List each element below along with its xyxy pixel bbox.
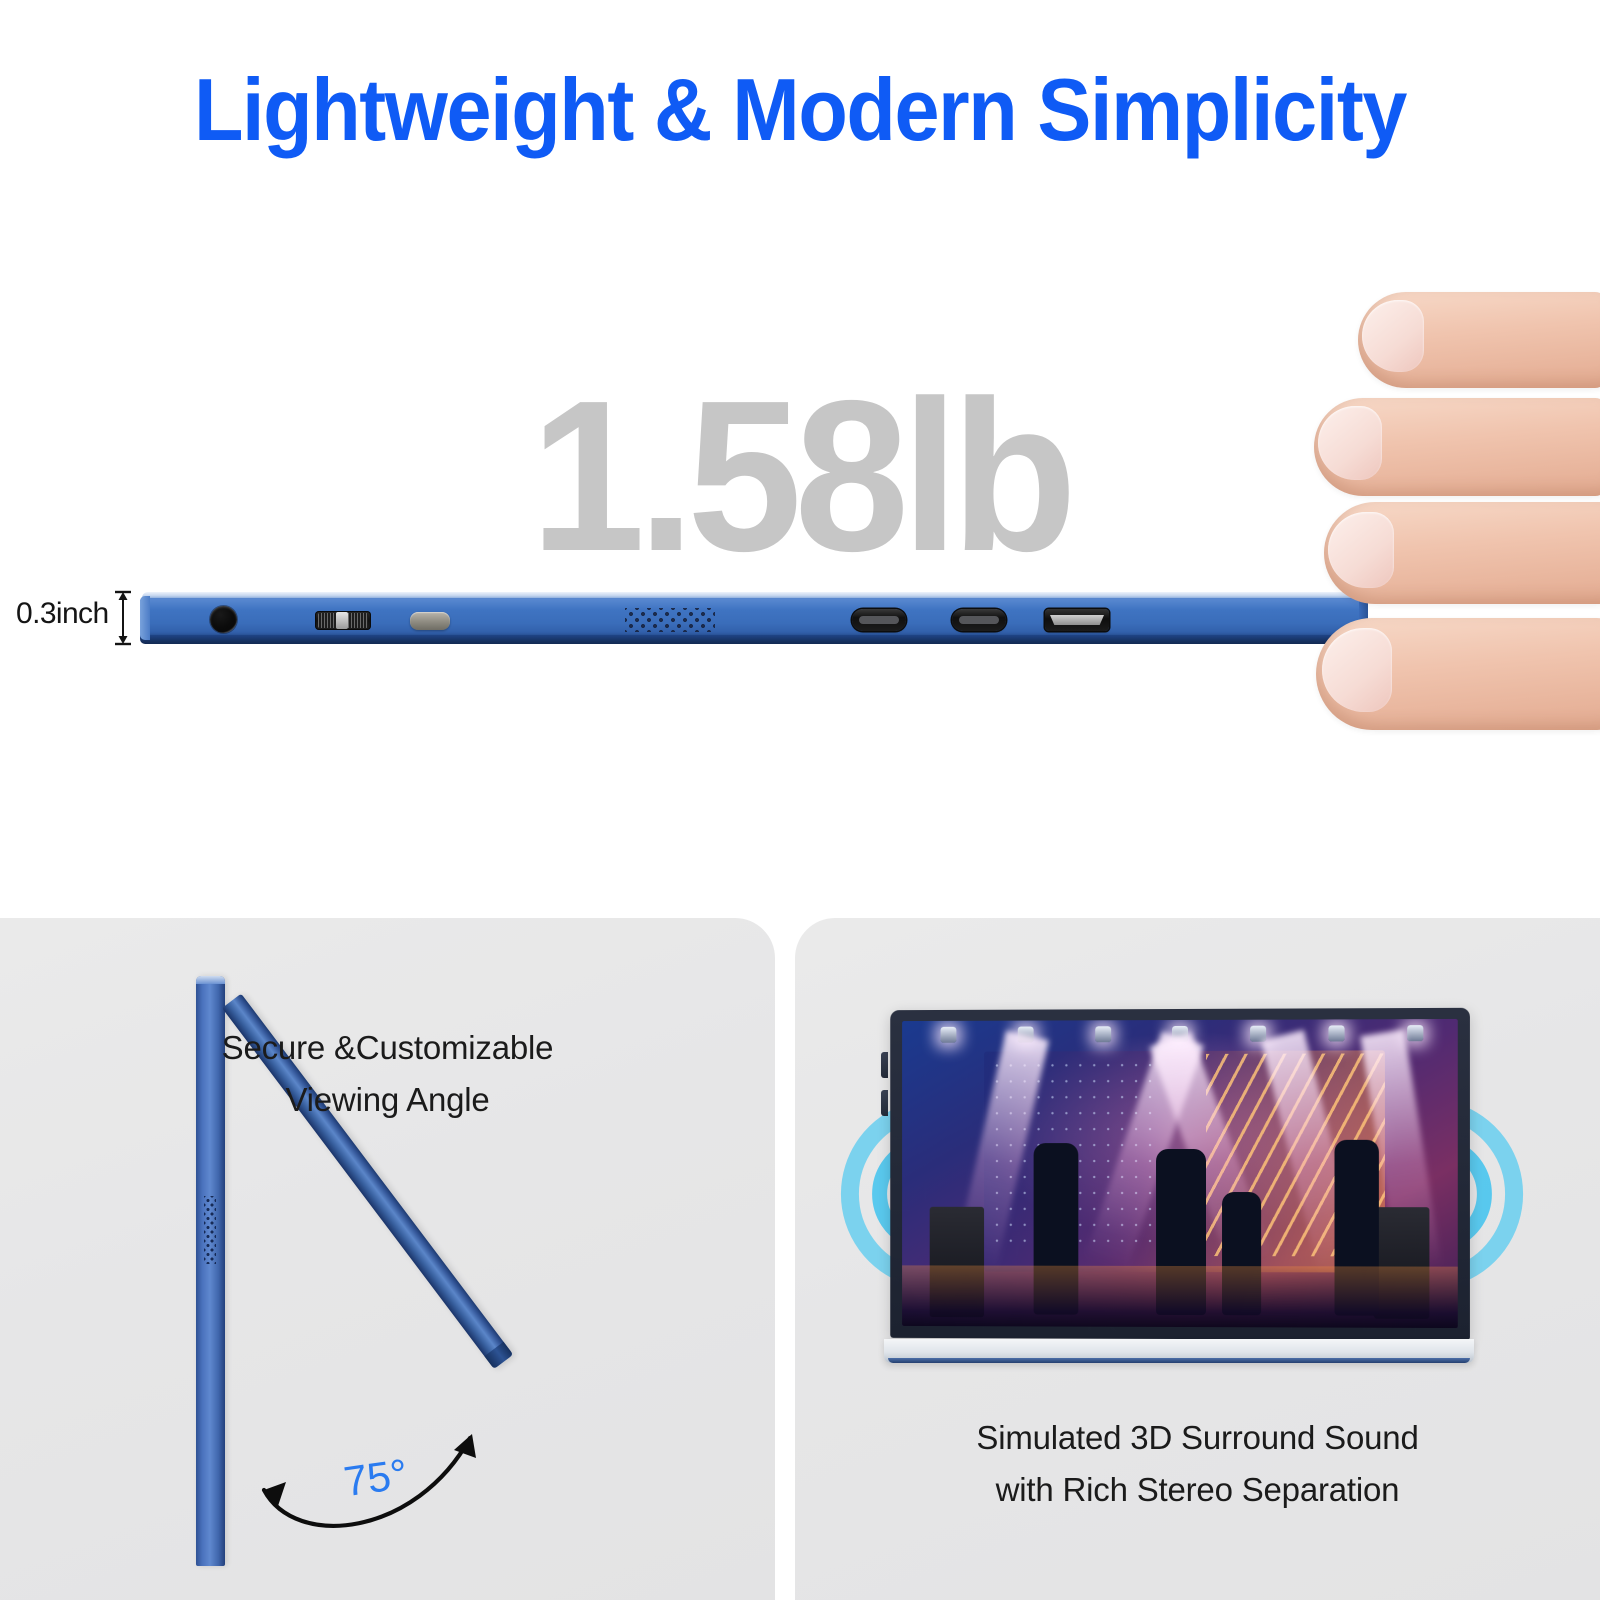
left-caption-line-1: Secure &Customizable xyxy=(0,1022,775,1074)
right-caption-line-1: Simulated 3D Surround Sound xyxy=(795,1412,1600,1464)
edge-bottom-shadow xyxy=(140,635,1368,644)
right-caption-line-2: with Rich Stereo Separation xyxy=(795,1464,1600,1516)
stage-spotlight-1 xyxy=(940,1027,956,1043)
hand-holding-device xyxy=(1318,286,1600,756)
monitor-side-profile xyxy=(140,592,1368,644)
thickness-label: 0.3inch xyxy=(16,597,109,631)
power-button-icon[interactable] xyxy=(410,612,450,630)
stage-spotlight-6 xyxy=(1329,1026,1345,1042)
monitor-bottom-base xyxy=(884,1339,1474,1363)
scroll-wheel-icon[interactable] xyxy=(315,611,371,630)
fingernail-middle xyxy=(1318,406,1382,480)
hdmi-port-icon xyxy=(1045,609,1109,631)
monitor-side-top-edge xyxy=(196,976,225,984)
left-caption-line-2: Viewing Angle xyxy=(0,1074,775,1126)
monitor-side-button-2[interactable] xyxy=(881,1090,888,1116)
stage-spotlight-7 xyxy=(1407,1025,1423,1041)
monitor-screen xyxy=(902,1019,1458,1328)
speaker-grille-icon xyxy=(625,608,715,632)
edge-left-cap xyxy=(140,596,150,640)
stage-floor xyxy=(902,1265,1458,1328)
thickness-dimension-arrow xyxy=(112,590,134,646)
monitor-side-button-1[interactable] xyxy=(881,1052,888,1078)
usb-c-port-1-icon xyxy=(852,609,906,631)
product-feature-page: Lightweight & Modern Simplicity 1.58lb 0… xyxy=(0,0,1600,1600)
page-title: Lightweight & Modern Simplicity xyxy=(64,66,1536,154)
portable-monitor xyxy=(890,1008,1470,1340)
side-speaker-grille-icon xyxy=(204,1196,216,1264)
headphone-jack-icon xyxy=(210,606,237,633)
fingernail-index xyxy=(1362,300,1424,372)
viewing-angle-label: 75° xyxy=(341,1450,411,1506)
angle-arc-arrow xyxy=(230,1322,530,1552)
usb-c-port-2-icon xyxy=(952,609,1006,631)
fingernail-ring xyxy=(1328,512,1394,588)
stage-spotlight-3 xyxy=(1095,1026,1111,1042)
